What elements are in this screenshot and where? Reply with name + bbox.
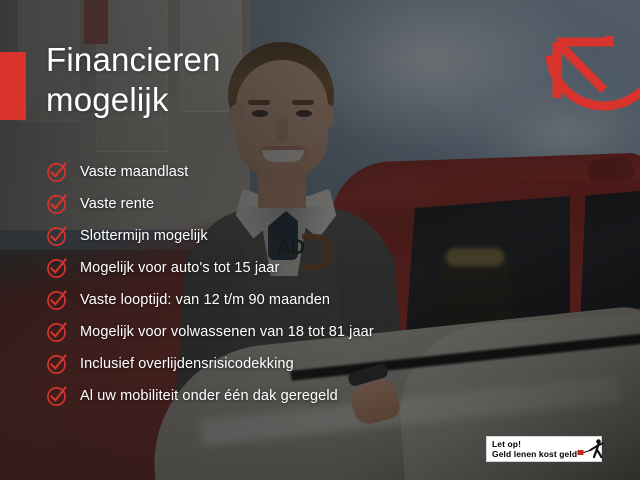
list-item: Vaste maandlast — [46, 156, 374, 188]
list-item-label: Al uw mobiliteit onder één dak geregeld — [80, 388, 338, 404]
feature-list: Vaste maandlast Vaste rente — [46, 156, 374, 412]
warning-line-1: Let op! — [492, 439, 577, 450]
warning-line-2: Geld lenen kost geld — [492, 449, 577, 460]
check-circle-icon — [46, 161, 68, 183]
list-item: Inclusief overlijdensrisicodekking — [46, 348, 374, 380]
banner-content: Financieren mogelijk Vaste maandlast — [0, 0, 640, 480]
page-title: Financieren mogelijk — [46, 40, 221, 120]
list-item-label: Mogelijk voor volwassenen van 18 tot 81 … — [80, 324, 374, 340]
person-pulling-weight-icon — [577, 438, 607, 460]
check-circle-icon — [46, 257, 68, 279]
list-item-label: Slottermijn mogelijk — [80, 228, 208, 244]
list-item-label: Inclusief overlijdensrisicodekking — [80, 356, 294, 372]
check-circle-icon — [46, 289, 68, 311]
warning-text: Let op! Geld lenen kost geld — [492, 439, 577, 460]
check-circle-icon — [46, 353, 68, 375]
list-item: Al uw mobiliteit onder één dak geregeld — [46, 380, 374, 412]
check-circle-icon — [46, 193, 68, 215]
list-item: Slottermijn mogelijk — [46, 220, 374, 252]
check-circle-icon — [46, 321, 68, 343]
list-item-label: Vaste rente — [80, 196, 154, 212]
status-badge: Let op! Geld lenen kost geld — [486, 436, 602, 462]
financing-promo-banner: AD Financieren mogelijk — [0, 0, 640, 480]
list-item: Vaste rente — [46, 188, 374, 220]
list-item: Mogelijk voor volwassenen van 18 tot 81 … — [46, 316, 374, 348]
list-item: Mogelijk voor auto's tot 15 jaar — [46, 252, 374, 284]
check-circle-icon — [46, 225, 68, 247]
list-item: Vaste looptijd: van 12 t/m 90 maanden — [46, 284, 374, 316]
list-item-label: Vaste looptijd: van 12 t/m 90 maanden — [80, 292, 330, 308]
list-item-label: Vaste maandlast — [80, 164, 188, 180]
check-circle-icon — [46, 385, 68, 407]
list-item-label: Mogelijk voor auto's tot 15 jaar — [80, 260, 279, 276]
